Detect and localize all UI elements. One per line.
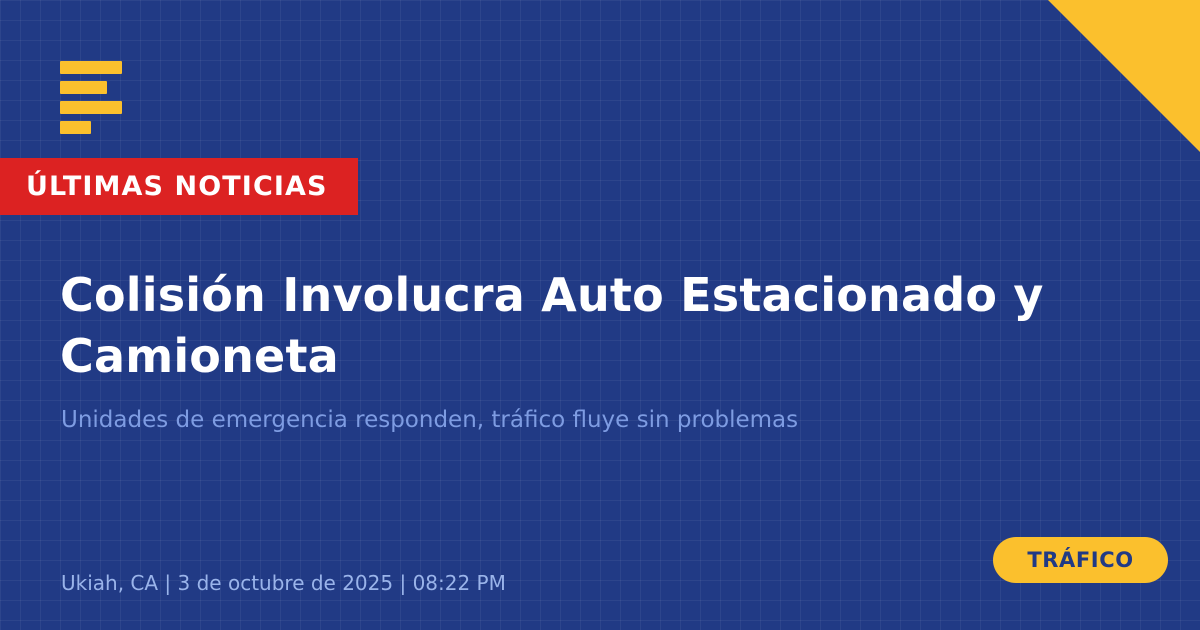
category-badge-label: TRÁFICO: [1027, 550, 1133, 571]
page-title: Colisión Involucra Auto Estacionado y Ca…: [60, 265, 1150, 386]
news-logo: [60, 61, 122, 134]
breaking-news-label: ÚLTIMAS NOTICIAS: [26, 173, 328, 200]
status-badge: TRÁFICO: [993, 537, 1168, 583]
article-meta: Ukiah, CA | 3 de octubre de 2025 | 08:22…: [61, 573, 506, 593]
logo-bar-1: [60, 61, 122, 74]
logo-bar-3: [60, 101, 122, 114]
breaking-news-card: ÚLTIMAS NOTICIAS Colisión Involucra Auto…: [0, 0, 1200, 630]
logo-bar-2: [60, 81, 107, 94]
logo-bar-4: [60, 121, 91, 134]
breaking-news-badge: ÚLTIMAS NOTICIAS: [0, 158, 358, 215]
corner-accent-triangle: [1048, 0, 1200, 152]
article-subtitle: Unidades de emergencia responden, tráfic…: [61, 406, 1061, 436]
